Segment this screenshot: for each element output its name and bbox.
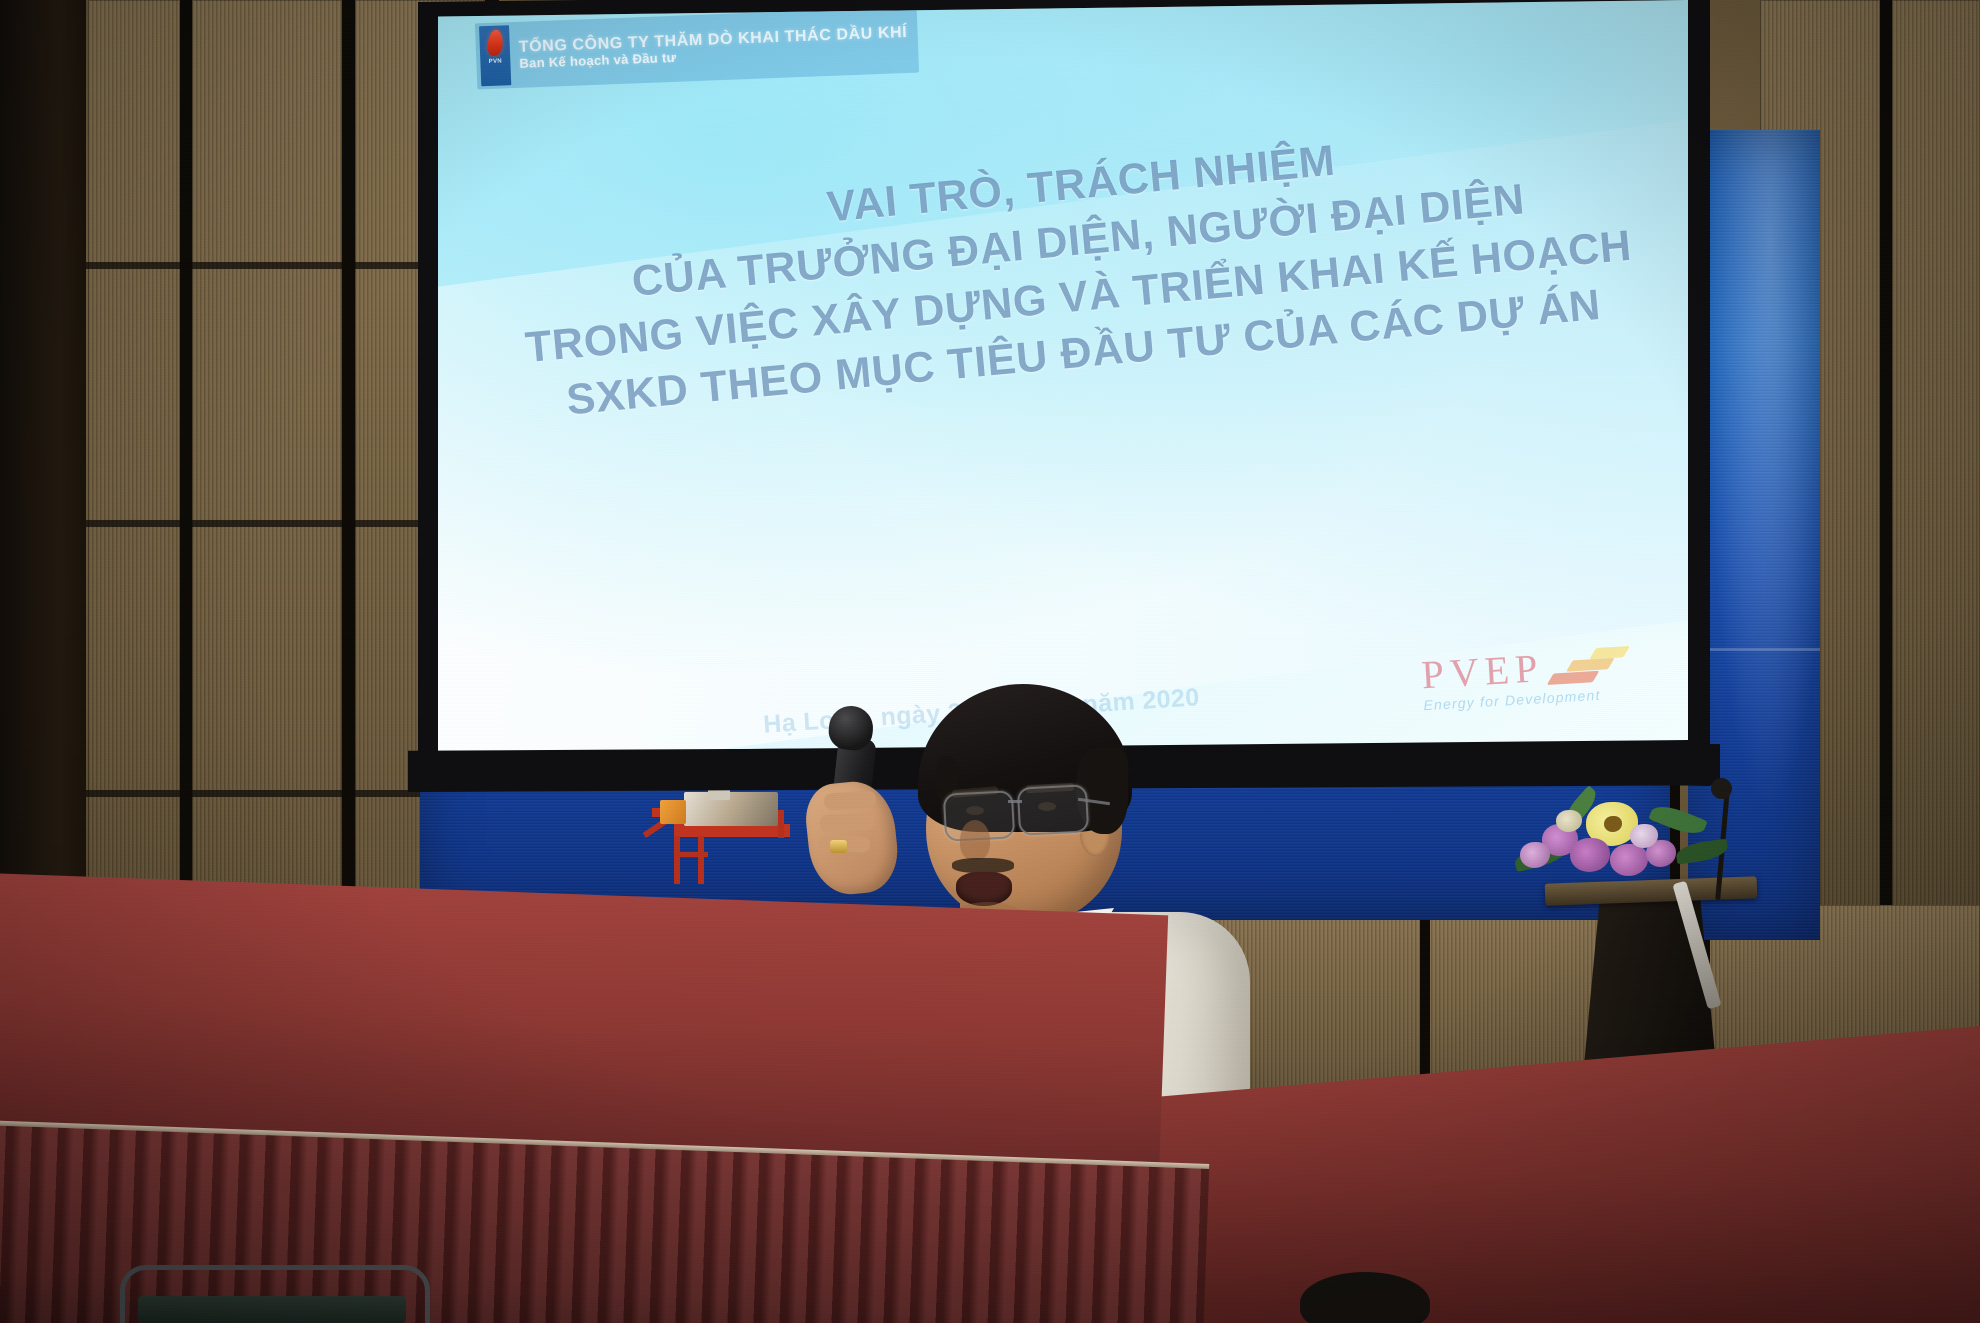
- eyeglasses-bridge: [1008, 800, 1022, 803]
- rig-leg: [680, 852, 708, 857]
- offshore-oil-platform: [630, 780, 820, 890]
- presentation-photo-scene: PVN TỔNG CÔNG TY THĂM DÒ KHAI THÁC DẦU K…: [0, 0, 1980, 1323]
- pv-logo-label: PVN: [488, 59, 501, 66]
- wall-panel: [1892, 0, 1980, 1000]
- flower-blossom: [1570, 838, 1610, 872]
- rig-leg: [674, 836, 680, 884]
- folding-chair-seat: [138, 1296, 406, 1323]
- flower-leaf: [1675, 838, 1729, 864]
- pvep-wordmark: PVEP: [1420, 648, 1544, 695]
- presenter-finger: [820, 813, 875, 832]
- presenter-nose: [960, 820, 990, 860]
- wall-groove: [1880, 0, 1892, 1000]
- projection-screen-surface: PVN TỔNG CÔNG TY THĂM DÒ KHAI THÁC DẦU K…: [438, 0, 1688, 752]
- flower-blossom: [1556, 810, 1582, 832]
- rig-leg: [778, 810, 784, 838]
- podium-flower-arrangement: [1500, 780, 1750, 900]
- pvep-logo-row: PVEP: [1420, 643, 1636, 696]
- petrovietnam-logo-icon: PVN: [479, 25, 511, 86]
- rig-module: [684, 792, 778, 826]
- eyeglasses-lens-right: [1017, 784, 1089, 836]
- pvep-swoosh-icon: [1548, 643, 1636, 688]
- rig-module: [660, 800, 686, 824]
- presenter-moustache: [952, 858, 1014, 873]
- slide-header-text: TỔNG CÔNG TY THĂM DÒ KHAI THÁC DẦU KHÍ B…: [518, 24, 908, 71]
- pvep-logo: PVEP Energy for Development: [1420, 643, 1637, 714]
- flame-icon: [486, 29, 503, 56]
- presenter-ring: [830, 840, 847, 853]
- flower-blossom: [1610, 844, 1648, 876]
- presenter-mouth: [956, 872, 1012, 906]
- slide-header: PVN TỔNG CÔNG TY THĂM DÒ KHAI THÁC DẦU K…: [474, 7, 918, 90]
- rig-leg: [698, 836, 704, 884]
- stage-front-red: [0, 873, 1168, 1165]
- presenter-finger: [823, 790, 876, 811]
